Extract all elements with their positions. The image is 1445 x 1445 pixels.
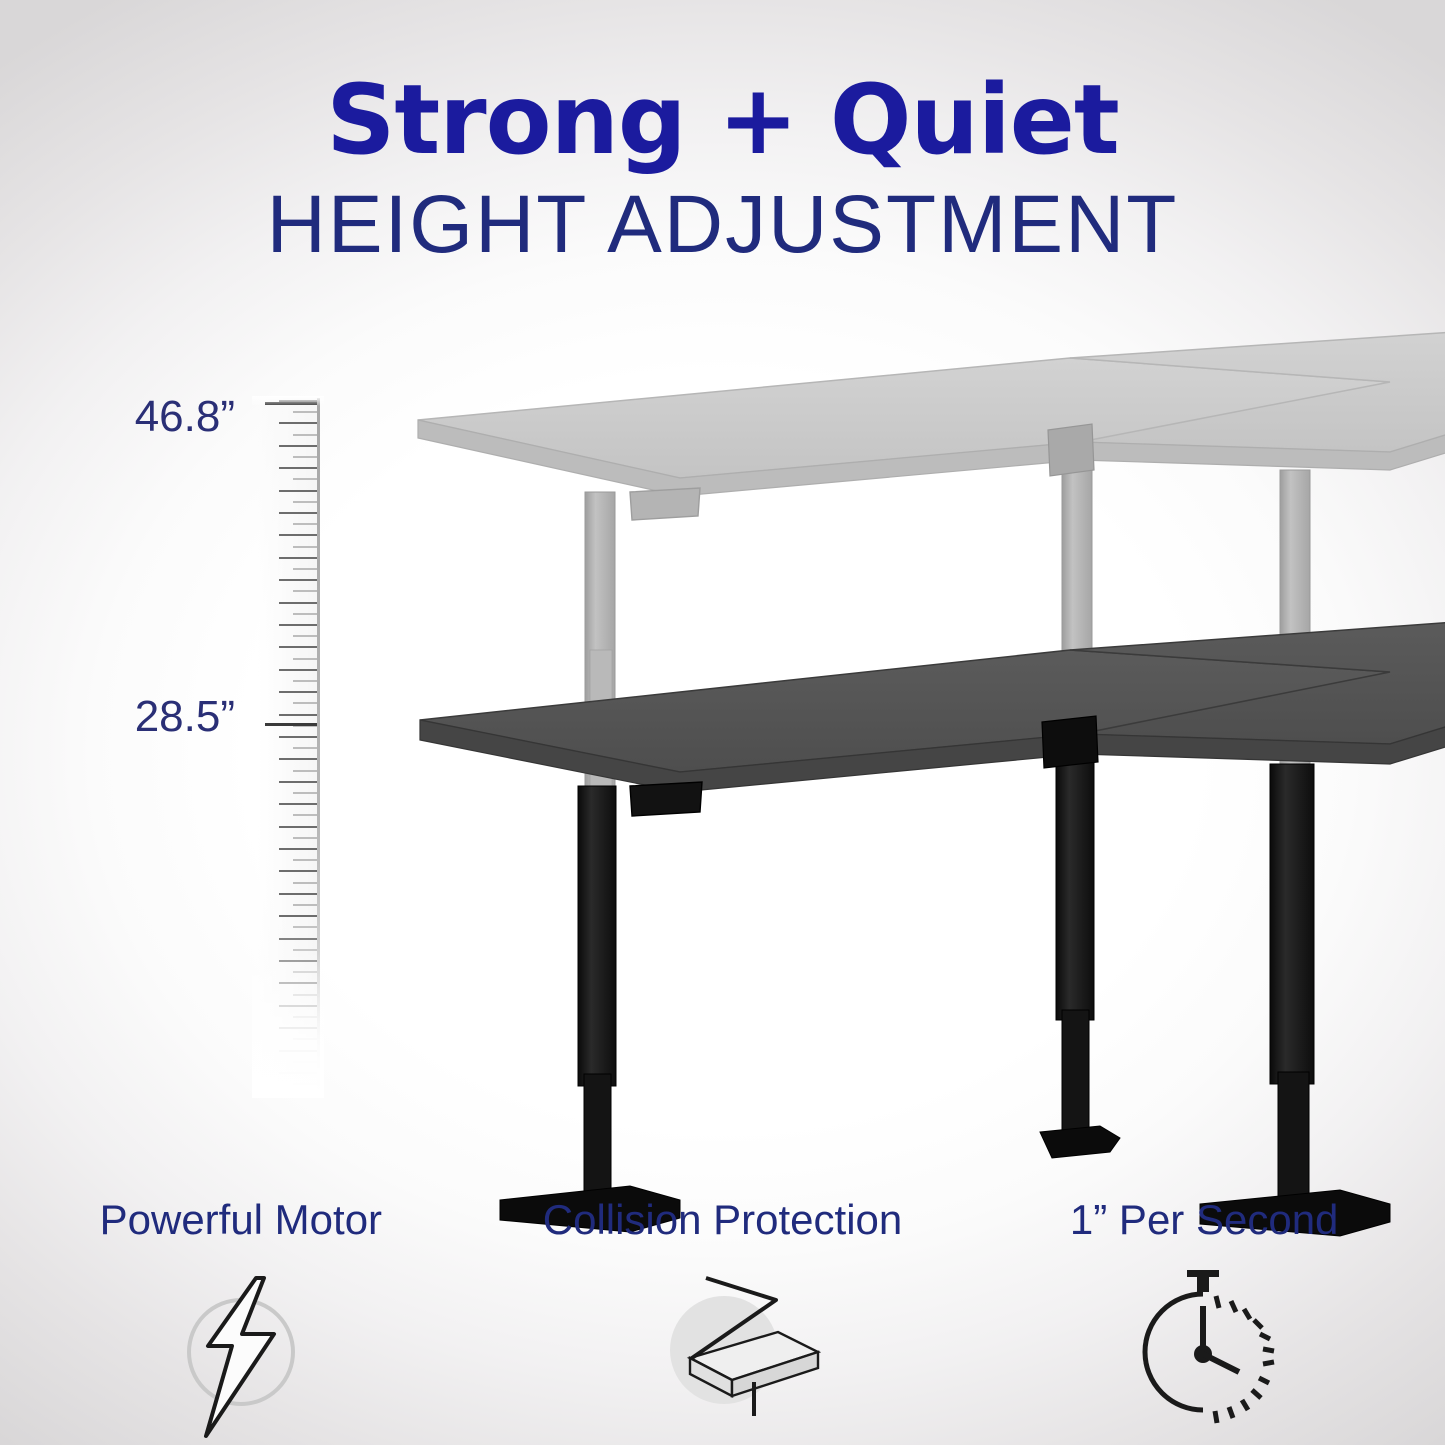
stopwatch-tick-marks [1215,1296,1274,1423]
ruler-tick [279,982,317,984]
ruler-tick [293,456,317,458]
feature-row: Powerful Motor Collision Protection [0,1196,1445,1445]
ruler-tick [293,859,317,861]
ruler-tick [279,781,317,783]
feature-label-speed: 1” Per Second [1070,1196,1339,1244]
ruler-tick [293,882,317,884]
ruler-tick [279,467,317,469]
ruler-tick [293,837,317,839]
ruler-tick [293,568,317,570]
page-title: Strong + Quiet [0,72,1445,168]
ruler-tick [293,680,317,682]
raised-desk-corner-bracket [1048,424,1094,476]
feature-label-collision-protection: Collision Protection [543,1196,903,1244]
ruler-tick [279,1005,317,1007]
ruler-tick [279,938,317,940]
ruler-tick [293,994,317,996]
ruler-tick [279,646,317,648]
ruler-tick [293,478,317,480]
ruler-tick [279,736,317,738]
ruler-tick [279,579,317,581]
ruler-tick [279,422,317,424]
lowered-desk-foot-corner [1040,1126,1120,1158]
ruler-tick [279,758,317,760]
stopwatch-crown [1187,1270,1219,1277]
bolt-path [206,1278,274,1436]
ruler-tick [293,1083,317,1085]
ruler-tick [293,904,317,906]
ruler-tick [293,1061,317,1063]
ruler-tick [279,1072,317,1074]
ruler-tick [279,557,317,559]
desktop-collision-icon [628,1270,818,1445]
lowered-desk-leg-right [1270,764,1314,1084]
ruler-tick [293,658,317,660]
ruler-tick [293,770,317,772]
raised-desk-keypad [630,488,700,520]
stopwatch-hour-hand [1203,1354,1239,1372]
lowered-desk-corner-bracket [1042,716,1098,768]
ruler-tick [279,870,317,872]
infographic-canvas: Strong + Quiet HEIGHT ADJUSTMENT 46.8” 2… [0,0,1445,1445]
ruler-tick [279,624,317,626]
ruler-tick [279,669,317,671]
headline-block: Strong + Quiet HEIGHT ADJUSTMENT [0,72,1445,268]
feature-speed: 1” Per Second [963,1196,1445,1445]
ruler-tick [293,747,317,749]
ruler-tick [293,1016,317,1018]
feature-collision-protection: Collision Protection [482,1196,964,1445]
feature-powerful-motor: Powerful Motor [0,1196,482,1445]
ruler-tick [293,1038,317,1040]
ruler-tick [293,613,317,615]
max-height-pointer [265,402,317,405]
min-height-label: 28.5” [50,692,235,742]
ruler-tick [293,501,317,503]
height-ruler [258,398,320,1098]
ruler-tick [279,960,317,962]
ruler-tick [293,926,317,928]
ruler-tick [293,523,317,525]
stopwatch-icon [1109,1270,1299,1445]
desk-illustration [380,320,1445,1220]
ruler-tick [279,1027,317,1029]
ruler-tick [293,411,317,413]
ruler-tick [279,803,317,805]
ruler-tick [279,490,317,492]
ruler-tick [293,792,317,794]
ruler-tick [279,848,317,850]
ruler-tick [293,702,317,704]
ruler-spine [317,398,320,1098]
ruler-tick [279,826,317,828]
ruler-tick [279,1094,317,1096]
ruler-tick [279,714,317,716]
lowered-desk-leg-left [578,786,616,1086]
page-subtitle: HEIGHT ADJUSTMENT [0,182,1445,268]
ruler-tick [293,814,317,816]
lowered-desk-group [420,622,1445,1236]
ruler-tick [293,635,317,637]
ruler-tick [279,512,317,514]
lightning-bolt-icon [146,1270,336,1445]
ruler-tick [293,546,317,548]
feature-label-powerful-motor: Powerful Motor [100,1196,382,1244]
max-height-label: 46.8” [50,392,235,442]
ruler-tick [293,434,317,436]
ruler-tick [279,445,317,447]
lowered-desk-leg-corner-lower [1062,1010,1089,1135]
ruler-tick [279,534,317,536]
lowered-desk-keypad [630,782,702,816]
ruler-tick [279,691,317,693]
ruler-tick [279,1050,317,1052]
ruler-tick [293,949,317,951]
ruler-tick [279,602,317,604]
ruler-tick [293,971,317,973]
min-height-pointer [265,723,317,726]
ruler-tick [279,893,317,895]
ruler-tick [279,915,317,917]
lowered-desk-leg-corner [1056,756,1094,1020]
ruler-tick [293,590,317,592]
